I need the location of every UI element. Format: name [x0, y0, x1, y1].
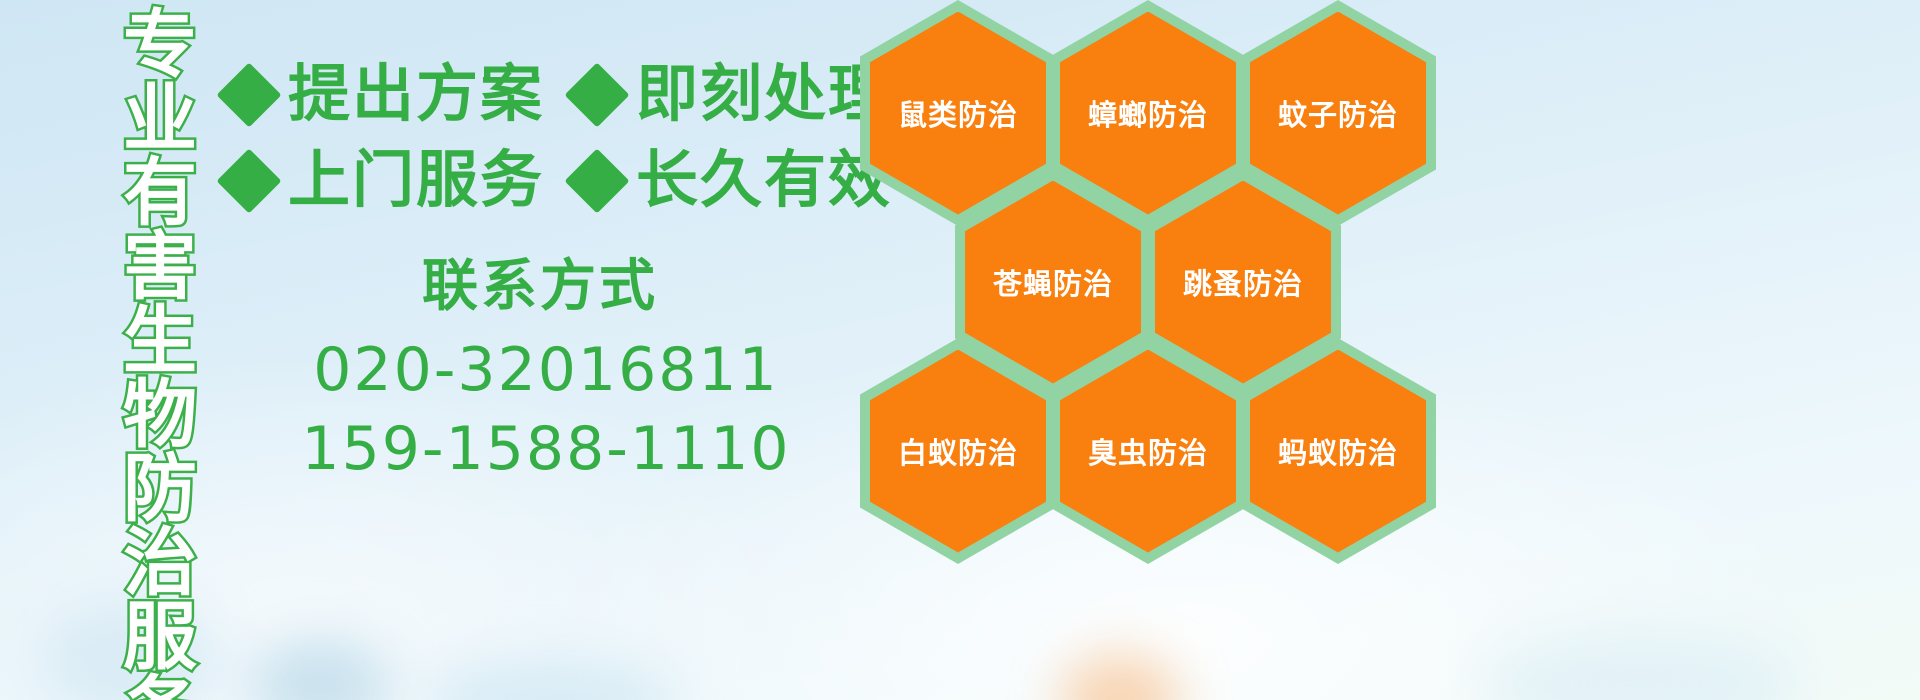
feature-label: 即刻处理 [636, 64, 892, 126]
background-blob [420, 660, 680, 700]
vertical-headline-char: 治 [123, 526, 197, 600]
phone-mobile[interactable]: 159-1588-1110 [226, 413, 866, 486]
vertical-headline-char: 服 [123, 600, 197, 674]
service-honeycomb: 鼠类防治 蟑螂防治 蚊子防治 苍蝇防治 跳蚤防治 白蚁防治 [856, 0, 1456, 700]
vertical-headline-char: 专 [123, 8, 197, 82]
vertical-headline-char: 业 [123, 82, 197, 156]
hexagon-fill: 跳蚤防治 [1155, 181, 1331, 384]
center-content: 提出方案 即刻处理 上门服务 长久有效 联系方式 020-32016811 15… [226, 64, 866, 486]
diamond-bullet-icon [564, 62, 629, 127]
vertical-headline-char: 物 [123, 378, 197, 452]
hexagon-fill: 白蚁防治 [870, 350, 1046, 553]
phone-landline[interactable]: 020-32016811 [226, 334, 866, 407]
hexagon-fill: 蚂蚁防治 [1250, 350, 1426, 553]
service-label: 蚊子防治 [1278, 92, 1398, 134]
service-label: 苍蝇防治 [993, 261, 1113, 303]
vertical-headline-char: 害 [123, 230, 197, 304]
service-label: 蟑螂防治 [1088, 92, 1208, 134]
feature-label: 上门服务 [288, 150, 544, 212]
hexagon-fill: 鼠类防治 [870, 12, 1046, 215]
vertical-headline-char: 有 [123, 156, 197, 230]
vertical-headline: 专 业 有 害 生 物 防 治 服 务 [104, 8, 216, 668]
background-blob [250, 640, 390, 700]
promo-banner: 专 业 有 害 生 物 防 治 服 务 提出方案 即刻处理 上门服务 [0, 0, 1920, 700]
feature-item: 上门服务 [226, 150, 574, 212]
feature-row: 上门服务 长久有效 [226, 150, 866, 212]
vertical-headline-char: 务 [123, 674, 197, 700]
vertical-headline-char: 生 [123, 304, 197, 378]
feature-label: 长久有效 [636, 150, 892, 212]
contact-title: 联系方式 [422, 258, 866, 314]
hexagon-fill: 臭虫防治 [1060, 350, 1236, 553]
feature-label: 提出方案 [288, 64, 544, 126]
service-label: 白蚁防治 [898, 430, 1018, 472]
feature-row: 提出方案 即刻处理 [226, 64, 866, 126]
service-label: 跳蚤防治 [1183, 261, 1303, 303]
service-label: 臭虫防治 [1088, 430, 1208, 472]
hexagon-fill: 蟑螂防治 [1060, 12, 1236, 215]
diamond-bullet-icon [564, 148, 629, 213]
hexagon-fill: 苍蝇防治 [965, 181, 1141, 384]
diamond-bullet-icon [216, 62, 281, 127]
hexagon-fill: 蚊子防治 [1250, 12, 1426, 215]
vertical-headline-char: 防 [123, 452, 197, 526]
diamond-bullet-icon [216, 148, 281, 213]
background-blob [1480, 630, 1800, 700]
service-label: 鼠类防治 [898, 92, 1018, 134]
service-label: 蚂蚁防治 [1278, 430, 1398, 472]
feature-item: 提出方案 [226, 64, 574, 126]
